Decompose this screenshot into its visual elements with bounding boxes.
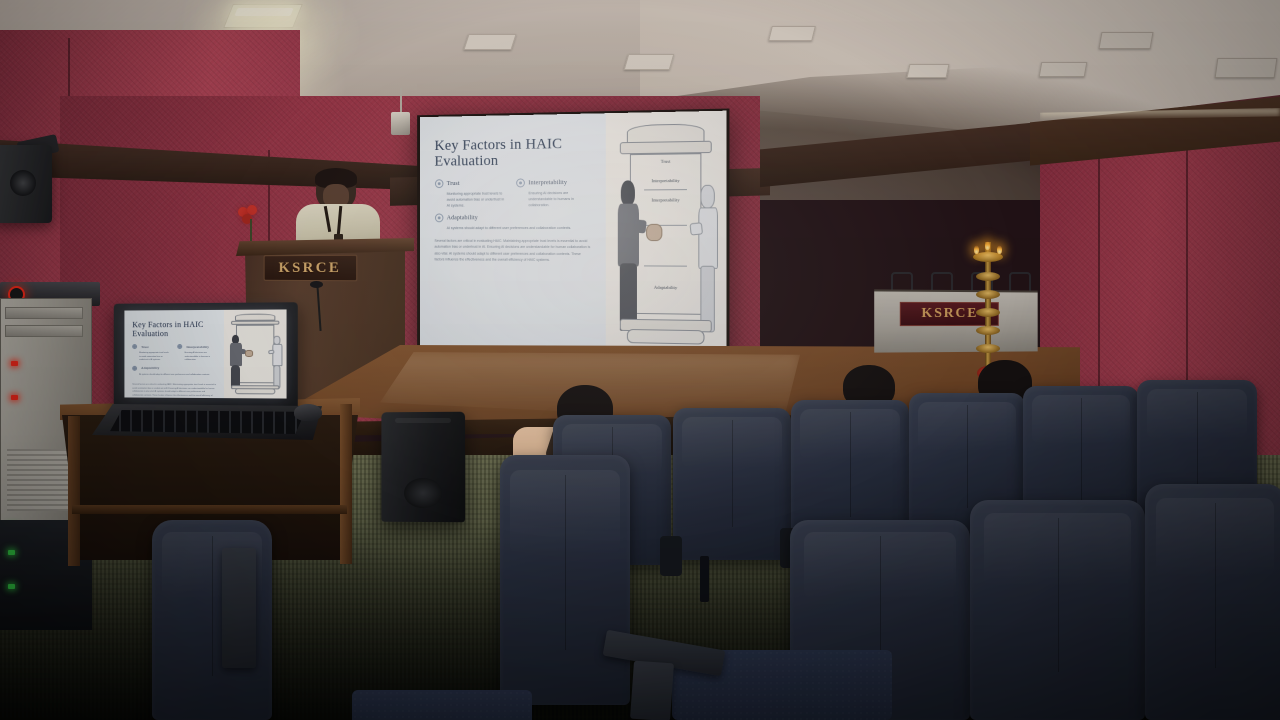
magnifier-icon bbox=[516, 178, 525, 187]
handshake-icon bbox=[245, 350, 253, 356]
seat-tablet-arm[interactable] bbox=[222, 548, 256, 668]
auditorium-seat[interactable] bbox=[673, 408, 791, 560]
slide-points-row-1: Trust Monitoring appropriate trust level… bbox=[434, 177, 593, 209]
human-robot-handshake-pillar-illustration: Trust Interpretability Interpretability … bbox=[606, 111, 726, 358]
laptop-slide-illustration bbox=[224, 309, 287, 398]
laptop-screen[interactable]: Key Factors in HAIC Evaluation Trust Mon… bbox=[124, 309, 286, 398]
pillar-label-trust: Trust bbox=[606, 158, 726, 165]
speaker-cone-icon bbox=[404, 478, 442, 508]
auditorium-scene: Key Factors in HAIC Evaluation Trust Mon… bbox=[0, 0, 1280, 720]
slide-point-body: AI systems should adapt to different use… bbox=[434, 224, 591, 230]
podium-nameplate-text: KSRCE bbox=[279, 259, 342, 276]
ceiling-vent bbox=[1215, 58, 1278, 78]
laptop-slide-text-column: Key Factors in HAIC Evaluation Trust Mon… bbox=[124, 310, 224, 398]
auditorium-seat[interactable] bbox=[970, 500, 1145, 720]
slide-point-trust: Trust Monitoring appropriate trust level… bbox=[434, 178, 510, 209]
laptop-keyboard[interactable] bbox=[110, 410, 305, 434]
human-figure-icon bbox=[229, 335, 243, 390]
lamp-flame bbox=[974, 245, 979, 254]
robot-figure-icon bbox=[696, 185, 720, 333]
pillar-base bbox=[627, 329, 704, 345]
laptop-slide-point-body: AI systems should adapt to different use… bbox=[132, 373, 216, 377]
handshake-icon bbox=[646, 224, 662, 241]
laptop-slide-point-body: Monitoring appropriate trust levels to a… bbox=[132, 352, 170, 362]
handshake-icon bbox=[434, 179, 442, 188]
slide-point-body: Ensuring AI decisions are understandable… bbox=[516, 190, 591, 209]
auditorium-seat[interactable] bbox=[500, 455, 630, 705]
ceiling-speaker-icon bbox=[391, 112, 410, 135]
presentation-slide: Key Factors in HAIC Evaluation Trust Mon… bbox=[420, 111, 726, 358]
status-led-green bbox=[8, 550, 15, 555]
ceiling-vent bbox=[1099, 32, 1154, 49]
arrows-icon bbox=[132, 365, 137, 370]
status-led-red bbox=[11, 361, 18, 366]
handshake-icon bbox=[132, 344, 137, 349]
computer-mouse[interactable] bbox=[294, 404, 322, 421]
arrows-icon bbox=[434, 213, 442, 222]
slide-point-heading: Interpretability bbox=[528, 179, 567, 186]
lamp-flame bbox=[985, 241, 990, 250]
slide-point-heading: Trust bbox=[447, 180, 460, 187]
flower-vase bbox=[236, 205, 268, 241]
human-figure-icon bbox=[615, 181, 641, 332]
laptop-slide-point-heading: Adaptability bbox=[141, 366, 159, 370]
seat-leg bbox=[700, 556, 709, 602]
ceiling-vent bbox=[1039, 62, 1088, 77]
seat-armrest bbox=[660, 536, 682, 576]
slide-summary-paragraph: Several factors are critical in evaluati… bbox=[434, 238, 591, 264]
pendant-rod bbox=[400, 88, 402, 114]
auditorium-seat[interactable] bbox=[1145, 484, 1280, 720]
status-led-red bbox=[11, 395, 18, 400]
ceiling-vent bbox=[624, 54, 675, 70]
robot-figure-icon bbox=[271, 336, 284, 389]
microphone-icon bbox=[310, 281, 323, 288]
seat-cushion[interactable] bbox=[352, 690, 532, 720]
slide-point-heading: Adaptability bbox=[447, 214, 478, 221]
laptop-slide-point-body: Ensuring AI decisions are understandable… bbox=[178, 352, 216, 363]
laptop-slide-summary: Several factors are critical in evaluati… bbox=[132, 384, 216, 399]
slide-point-adaptability: Adaptability AI systems should adapt to … bbox=[434, 212, 593, 230]
slide-point-interpretability: Interpretability Ensuring AI decisions a… bbox=[516, 177, 594, 208]
speaker-cone-icon bbox=[10, 170, 36, 196]
slide-text-column: Key Factors in HAIC Evaluation Trust Mon… bbox=[420, 113, 606, 355]
lamp-flame bbox=[997, 245, 1002, 254]
av-desk-leg bbox=[68, 416, 80, 566]
ceiling-vent bbox=[768, 26, 816, 41]
stage-table-sign-text: KSRCE bbox=[921, 306, 978, 322]
slide-illustration-column: Trust Interpretability Interpretability … bbox=[606, 111, 726, 358]
ceiling-light-tube bbox=[234, 8, 293, 16]
laptop-slide-mirror: Key Factors in HAIC Evaluation Trust Mon… bbox=[124, 309, 286, 398]
ceiling-vent bbox=[907, 64, 950, 78]
av-desk-shelf bbox=[72, 505, 347, 514]
laptop-slide-point-heading: Trust bbox=[141, 345, 149, 349]
av-desk-leg bbox=[340, 404, 352, 564]
magnifier-icon bbox=[178, 344, 183, 349]
podium-nameplate: KSRCE bbox=[264, 255, 358, 282]
projection-screen: Key Factors in HAIC Evaluation Trust Mon… bbox=[420, 111, 726, 358]
laptop-slide-title: Key Factors in HAIC Evaluation bbox=[132, 321, 217, 339]
status-led-green bbox=[8, 584, 15, 589]
seat-tablet-arm-support bbox=[630, 661, 674, 720]
speaker-highlight bbox=[395, 418, 451, 423]
slide-point-body: Monitoring appropriate trust levels to a… bbox=[434, 190, 506, 209]
laptop-slide-point-heading: Interpretability bbox=[186, 344, 209, 348]
slide-title: Key Factors in HAIC Evaluation bbox=[434, 135, 593, 170]
ceiling-vent bbox=[463, 34, 516, 50]
